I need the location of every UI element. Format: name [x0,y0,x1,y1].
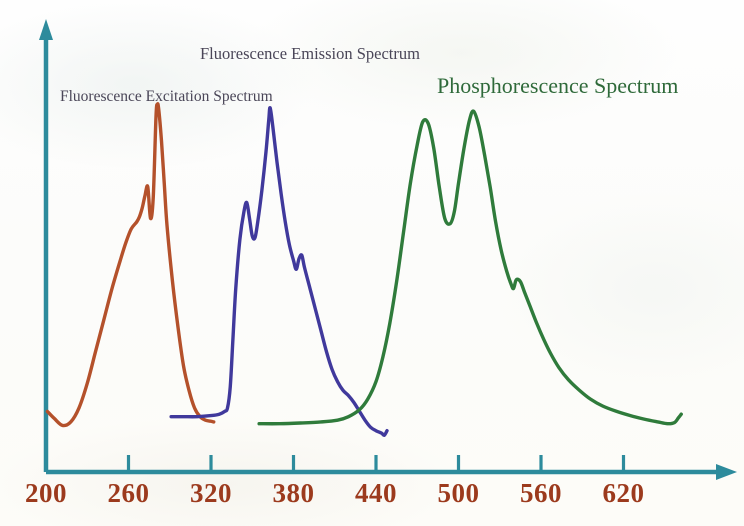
x-axis-tick-label: 260 [108,478,150,509]
series-label-excitation: Fluorescence Excitation Spectrum [60,88,273,106]
x-axis-tick-label: 500 [438,478,480,509]
x-axis-tick-label: 200 [25,478,67,509]
spectra-curves [47,104,681,436]
spectra-figure: 200260320380440500560620 Fluorescence Ex… [0,0,744,526]
x-axis-ticks [46,455,624,472]
series-label-phosphorescence: Phosphorescence Spectrum [437,73,678,99]
x-axis-tick-label: 320 [190,478,232,509]
curve-phosphorescence [259,111,681,424]
curve-fluorescence-emission [171,108,387,436]
x-axis-tick-label: 440 [355,478,397,509]
x-axis-tick-label: 560 [520,478,562,509]
x-axis-arrowhead [716,464,737,480]
y-axis-arrowhead [39,19,53,40]
x-axis-tick-label: 620 [603,478,645,509]
series-label-emission: Fluorescence Emission Spectrum [200,44,420,64]
curve-fluorescence-excitation [47,104,213,426]
x-axis-tick-label: 380 [273,478,315,509]
